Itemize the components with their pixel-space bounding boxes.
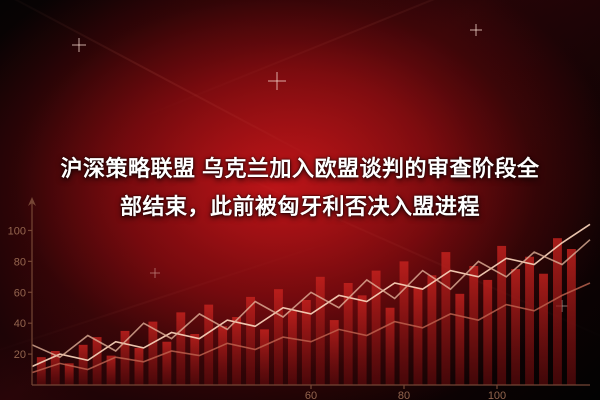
svg-text:40: 40 [14, 318, 26, 330]
chart-lines [32, 224, 590, 372]
svg-text:80: 80 [14, 256, 26, 268]
svg-text:60: 60 [305, 390, 317, 400]
headline-line-2: 部结束，此前被匈牙利否决入盟进程 [12, 188, 588, 226]
svg-text:20: 20 [14, 349, 26, 361]
svg-text:100: 100 [488, 390, 506, 400]
image-canvas: 204060801006080100 沪深策略联盟 乌克兰加入欧盟谈判的审查阶段… [0, 0, 600, 400]
svg-text:60: 60 [14, 287, 26, 299]
svg-text:80: 80 [398, 390, 410, 400]
svg-text:100: 100 [8, 225, 26, 237]
headline-text: 沪深策略联盟 乌克兰加入欧盟谈判的审查阶段全 部结束，此前被匈牙利否决入盟进程 [0, 150, 600, 226]
headline-line-1: 沪深策略联盟 乌克兰加入欧盟谈判的审查阶段全 [12, 150, 588, 188]
